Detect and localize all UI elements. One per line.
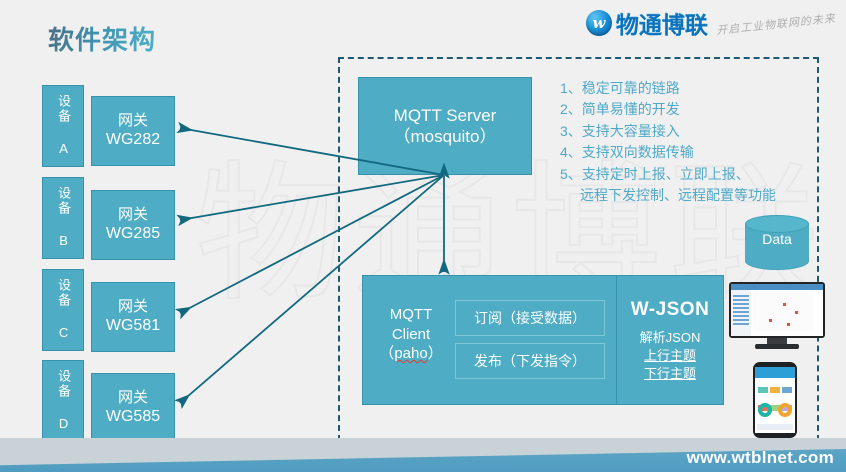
phone-app-footer	[757, 424, 793, 430]
desktop-monitor-icon	[729, 282, 825, 350]
logo-circle-icon: w	[586, 10, 612, 36]
brand-name: 物通博联	[616, 6, 708, 40]
dashboard-list-row	[733, 303, 749, 305]
feature-list: 1、稳定可靠的链路 2、简单易懂的开发 3、支持大容量接入 4、支持双向数据传输…	[560, 78, 825, 206]
monitor-dashboard	[731, 284, 823, 336]
map-marker	[795, 311, 798, 314]
dashboard-list-row	[733, 295, 749, 297]
mqtt-server-box: MQTT Server （mosquito）	[358, 77, 532, 175]
footer-website-url: www.wtblnet.com	[687, 448, 834, 468]
smartphone-icon	[753, 362, 797, 438]
paren-open: （	[379, 345, 394, 362]
gateway-label-d-line1: 网关	[118, 389, 148, 408]
wjson-box: W-JSON 解析JSON 上行主题 下行主题	[616, 275, 724, 405]
mqtt-client-line2: Client	[368, 325, 454, 345]
brand-tagline: 开启工业物联网的未来	[715, 10, 836, 38]
gateway-label-a-line1: 网关	[118, 112, 148, 131]
feature-item-5-continued: 远程下发控制、远程配置等功能	[560, 185, 825, 206]
map-marker	[787, 323, 790, 326]
dashboard-list-row	[733, 319, 749, 321]
gateway-box-a: 网关 WG282	[91, 96, 175, 166]
map-marker	[769, 319, 772, 322]
monitor-screen	[729, 282, 825, 338]
gateway-box-b: 网关 WG285	[91, 190, 175, 260]
mqtt-client-impl: paho	[394, 345, 427, 362]
phone-screen	[755, 367, 795, 433]
mqtt-client-label: MQTT Client （paho）	[368, 305, 454, 364]
dashboard-list-row	[733, 307, 749, 309]
phone-chart-donut-left	[758, 403, 772, 417]
page-title: 软件架构	[48, 20, 156, 57]
gateway-label-a-line2: WG282	[106, 130, 160, 150]
mqtt-server-impl: （mosquito）	[394, 126, 497, 147]
phone-grid-cell	[758, 387, 768, 393]
subscribe-box: 订阅（接受数据）	[455, 300, 605, 336]
wjson-topic-down: 下行主题	[644, 366, 696, 382]
brand-logo: w 物通博联 开启工业物联网的未来	[586, 6, 836, 40]
publish-box: 发布（下发指令）	[455, 343, 605, 379]
gateway-label-c-line1: 网关	[118, 298, 148, 317]
map-marker	[783, 303, 786, 306]
gateway-label-c-line2: WG581	[106, 316, 160, 336]
monitor-base	[755, 344, 799, 349]
mqtt-server-title: MQTT Server	[394, 105, 497, 126]
gateway-label-b-line2: WG285	[106, 224, 160, 244]
phone-body	[753, 362, 797, 438]
wjson-topic-up: 上行主题	[644, 348, 696, 364]
gateway-box-c: 网关 WG581	[91, 282, 175, 352]
feature-item-4: 4、支持双向数据传输	[560, 142, 825, 163]
dashboard-list-row	[733, 315, 749, 317]
gateway-label-b-line1: 网关	[118, 206, 148, 225]
device-box-a: 设备 A	[42, 85, 84, 167]
dashboard-sidebar	[731, 290, 751, 336]
device-box-d: 设备 D	[42, 360, 84, 442]
feature-item-1: 1、稳定可靠的链路	[560, 78, 825, 99]
phone-grid-cell	[782, 387, 792, 393]
gateway-label-d-line2: WG585	[106, 407, 160, 427]
database-cylinder-icon: Data	[745, 215, 809, 269]
mqtt-client-line3: （paho）	[368, 344, 454, 364]
phone-grid-cell	[770, 387, 780, 393]
gateway-box-d: 网关 WG585	[91, 373, 175, 443]
feature-item-2: 2、简单易懂的开发	[560, 99, 825, 120]
dashboard-list-row	[733, 323, 749, 325]
wjson-title: W-JSON	[631, 298, 710, 322]
paren-close: ）	[428, 345, 443, 362]
dashboard-list-row	[733, 299, 749, 301]
phone-app-grid	[757, 381, 793, 397]
mqtt-client-line1: MQTT	[368, 305, 454, 325]
device-box-b: 设备 B	[42, 177, 84, 259]
phone-app-header	[755, 367, 795, 378]
device-box-c: 设备 C	[42, 269, 84, 351]
database-label: Data	[745, 231, 809, 247]
wjson-subtitle: 解析JSON	[640, 330, 701, 346]
dashboard-list-row	[733, 311, 749, 313]
phone-chart-donut-right	[778, 403, 792, 417]
feature-item-5: 5、支持定时上报、立即上报、	[560, 164, 825, 185]
dashboard-map	[753, 293, 813, 331]
slide-canvas: 物通博联 软件架构 w 物通博联 开启工业物联网的未来 设备 A 网关 WG28…	[0, 0, 846, 472]
feature-item-3: 3、支持大容量接入	[560, 121, 825, 142]
